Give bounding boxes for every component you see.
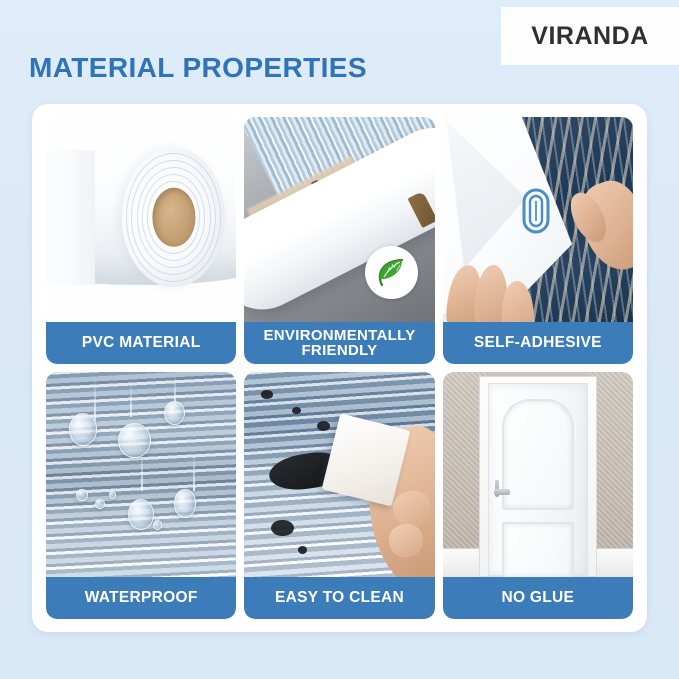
paperclip-icon (519, 187, 553, 235)
door-handle (494, 489, 511, 495)
easy-to-clean-image (244, 372, 434, 577)
stain-mark (261, 390, 272, 398)
feature-label-self-adhesive: SELF-ADHESIVE (443, 322, 633, 364)
brand-name: VIRANDA (531, 22, 648, 51)
water-droplet (128, 499, 155, 530)
stain-mark (271, 520, 294, 536)
roll-edge (46, 150, 95, 285)
water-trail (130, 380, 132, 417)
water-droplet (174, 489, 197, 518)
water-droplet (164, 401, 185, 426)
no-glue-image (443, 372, 633, 577)
eco-badge (365, 246, 418, 299)
water-trail (193, 450, 195, 491)
waterproof-image (46, 372, 236, 577)
feature-card-pvc-material[interactable]: PVC MATERIAL (46, 117, 236, 364)
feature-card-waterproof[interactable]: WATERPROOF (46, 372, 236, 619)
feature-label-no-glue: NO GLUE (443, 577, 633, 619)
feature-card-easy-to-clean[interactable]: EASY TO CLEAN (244, 372, 434, 619)
pvc-roll-illustration (46, 117, 236, 322)
door-slab (488, 383, 588, 576)
door-panel-upper (502, 399, 574, 510)
self-adhesive-image (443, 117, 633, 322)
features-grid: PVC MATERIAL (46, 117, 633, 619)
feature-card-environmentally-friendly[interactable]: ENVIRONMENTALLYFRIENDLY (244, 117, 434, 364)
feature-label-easy-to-clean: EASY TO CLEAN (244, 577, 434, 619)
water-droplet (69, 413, 98, 446)
feature-label-waterproof: WATERPROOF (46, 577, 236, 619)
roll-cardboard-core (152, 188, 195, 247)
leaf-icon (374, 256, 408, 290)
water-droplet (153, 520, 163, 530)
water-droplet (76, 489, 87, 501)
page-title: MATERIAL PROPERTIES (29, 52, 367, 84)
water-droplet (118, 423, 150, 458)
pvc-roll-image (46, 117, 236, 322)
features-panel: PVC MATERIAL (32, 104, 647, 632)
feature-label-environmentally-friendly: ENVIRONMENTALLYFRIENDLY (244, 322, 434, 364)
door-panel-lower (502, 522, 574, 578)
roll-face (122, 148, 225, 287)
feature-card-no-glue[interactable]: NO GLUE (443, 372, 633, 619)
feature-label-pvc-material: PVC MATERIAL (46, 322, 236, 364)
door-frame (479, 376, 597, 577)
water-trail (94, 376, 96, 421)
eco-wallpaper-image (244, 117, 434, 322)
brand-logo-box: VIRANDA (501, 7, 679, 65)
feature-card-self-adhesive[interactable]: SELF-ADHESIVE (443, 117, 633, 364)
